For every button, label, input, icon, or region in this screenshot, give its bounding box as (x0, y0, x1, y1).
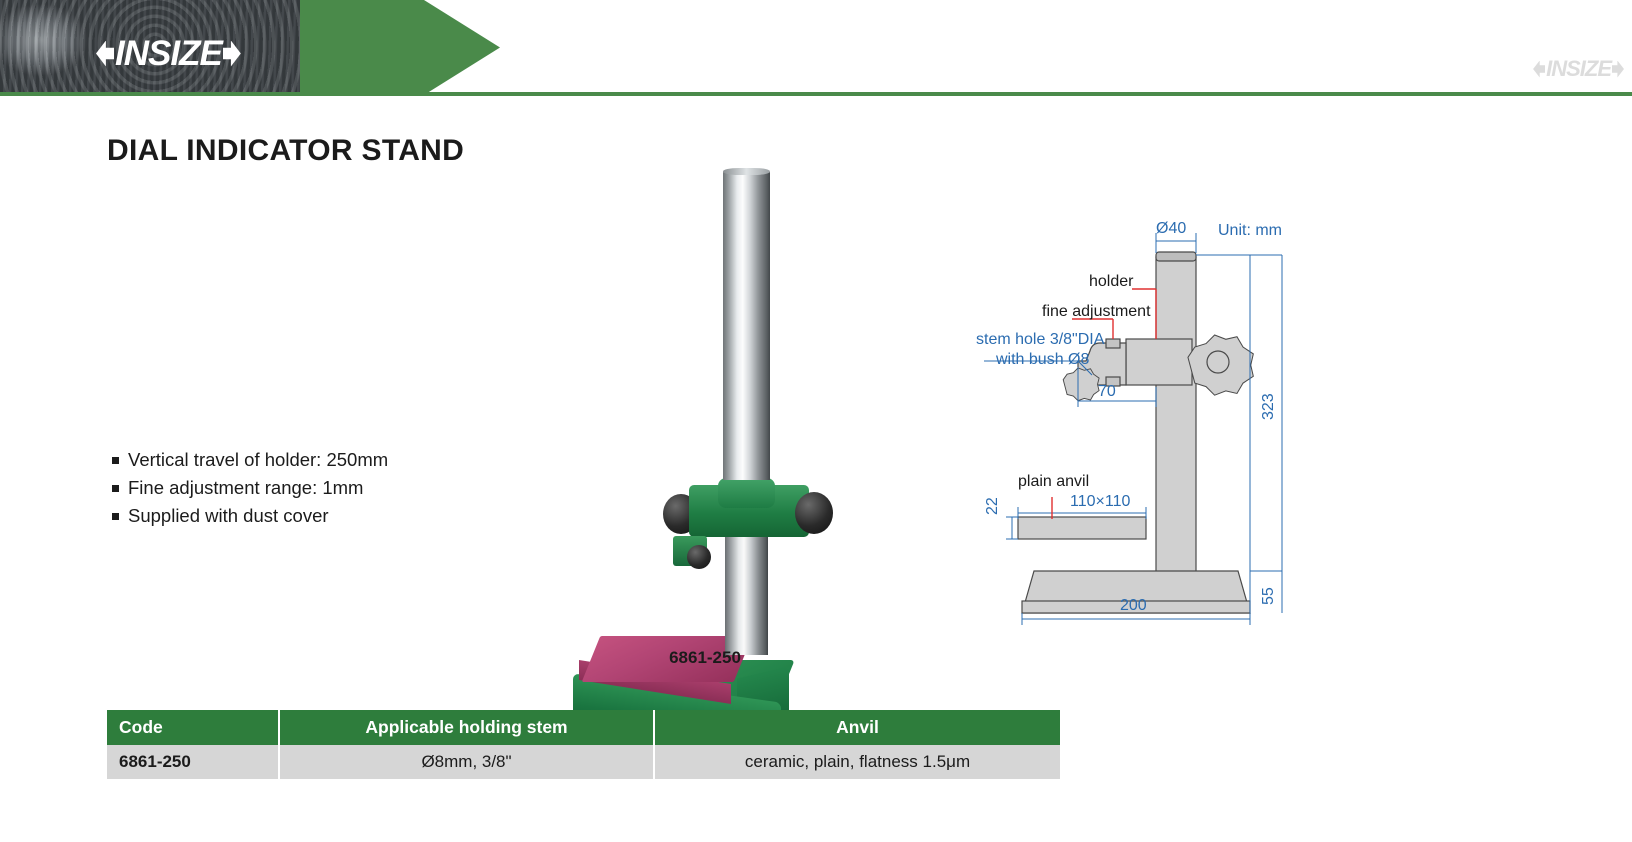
square-bullet-icon (112, 457, 119, 464)
specification-table: Code Applicable holding stem Anvil 6861-… (107, 710, 1060, 779)
drawing-column-cap (1156, 252, 1196, 261)
drawing-fine-adjust-pin (1106, 339, 1120, 348)
product-column (723, 170, 770, 480)
watermark-left-arrow-icon (1533, 61, 1545, 78)
logo-left-arrow-icon (96, 41, 114, 67)
drawing-column (1156, 257, 1196, 612)
page-header: INSIZE INSIZE (0, 0, 1632, 100)
watermark-wordmark: INSIZE (1546, 58, 1611, 80)
feature-text: Fine adjustment range: 1mm (128, 476, 363, 500)
dimension-base-height: 55 (1260, 587, 1278, 605)
product-column-cap (723, 168, 770, 175)
product-datasheet-page: INSIZE INSIZE DIAL INDICATOR STAND Verti… (0, 0, 1632, 842)
square-bullet-icon (112, 485, 119, 492)
table-header-code: Code (107, 710, 279, 745)
list-item: Supplied with dust cover (107, 504, 537, 528)
drawing-holder-block (1126, 339, 1192, 385)
list-item: Vertical travel of holder: 250mm (107, 448, 537, 472)
header-green-chevron (300, 0, 500, 95)
dimension-base-width: 200 (1120, 597, 1147, 615)
technical-drawing: Unit: mm Ø40 holder fine adjustment stem… (960, 215, 1320, 635)
product-fine-adjust-knob (687, 545, 711, 569)
page-title: DIAL INDICATOR STAND (107, 134, 464, 168)
feature-text: Vertical travel of holder: 250mm (128, 448, 388, 472)
feature-text: Supplied with dust cover (128, 504, 329, 528)
insize-logo: INSIZE (96, 36, 241, 71)
dimension-column-diameter: Ø40 (1156, 220, 1186, 238)
drawing-knob-right-hub (1207, 351, 1229, 373)
dimension-column-height: 323 (1260, 393, 1278, 420)
dimension-reach: 70 (1098, 383, 1116, 401)
cell-code: 6861-250 (107, 745, 279, 779)
logo-right-arrow-icon (223, 41, 241, 67)
drawing-unit-label: Unit: mm (1218, 222, 1282, 240)
table-header-stem: Applicable holding stem (279, 710, 654, 745)
logo-wordmark: INSIZE (115, 36, 222, 71)
callout-plain-anvil: plain anvil (1018, 473, 1089, 491)
cell-stem: Ø8mm, 3/8" (279, 745, 654, 779)
dimension-anvil-thickness: 22 (984, 497, 1002, 515)
table-header-row: Code Applicable holding stem Anvil (107, 710, 1060, 745)
callout-fine-adjustment: fine adjustment (1042, 303, 1151, 321)
drawing-plain-anvil (1018, 517, 1146, 539)
feature-list: Vertical travel of holder: 250mm Fine ad… (107, 448, 537, 532)
product-photo-caption: 6861-250 (555, 648, 855, 668)
product-knob-right (795, 492, 833, 534)
header-green-rule (0, 92, 1632, 96)
dimension-anvil-size: 110×110 (1070, 493, 1130, 511)
table-row[interactable]: 6861-250 Ø8mm, 3/8" ceramic, plain, flat… (107, 745, 1060, 779)
cell-anvil: ceramic, plain, flatness 1.5μm (654, 745, 1060, 779)
list-item: Fine adjustment range: 1mm (107, 476, 537, 500)
callout-holder: holder (1089, 273, 1133, 291)
product-photo (555, 160, 855, 630)
callout-stem-hole-line1: stem hole 3/8"DIA (976, 331, 1104, 349)
product-holder-collar (718, 478, 775, 508)
table-header-anvil: Anvil (654, 710, 1060, 745)
square-bullet-icon (112, 513, 119, 520)
watermark-right-arrow-icon (1612, 61, 1624, 78)
drawing-dimension-lines (1006, 233, 1282, 625)
callout-stem-hole-line2: with bush Ø8 (996, 351, 1089, 369)
insize-watermark-logo: INSIZE (1533, 58, 1624, 80)
